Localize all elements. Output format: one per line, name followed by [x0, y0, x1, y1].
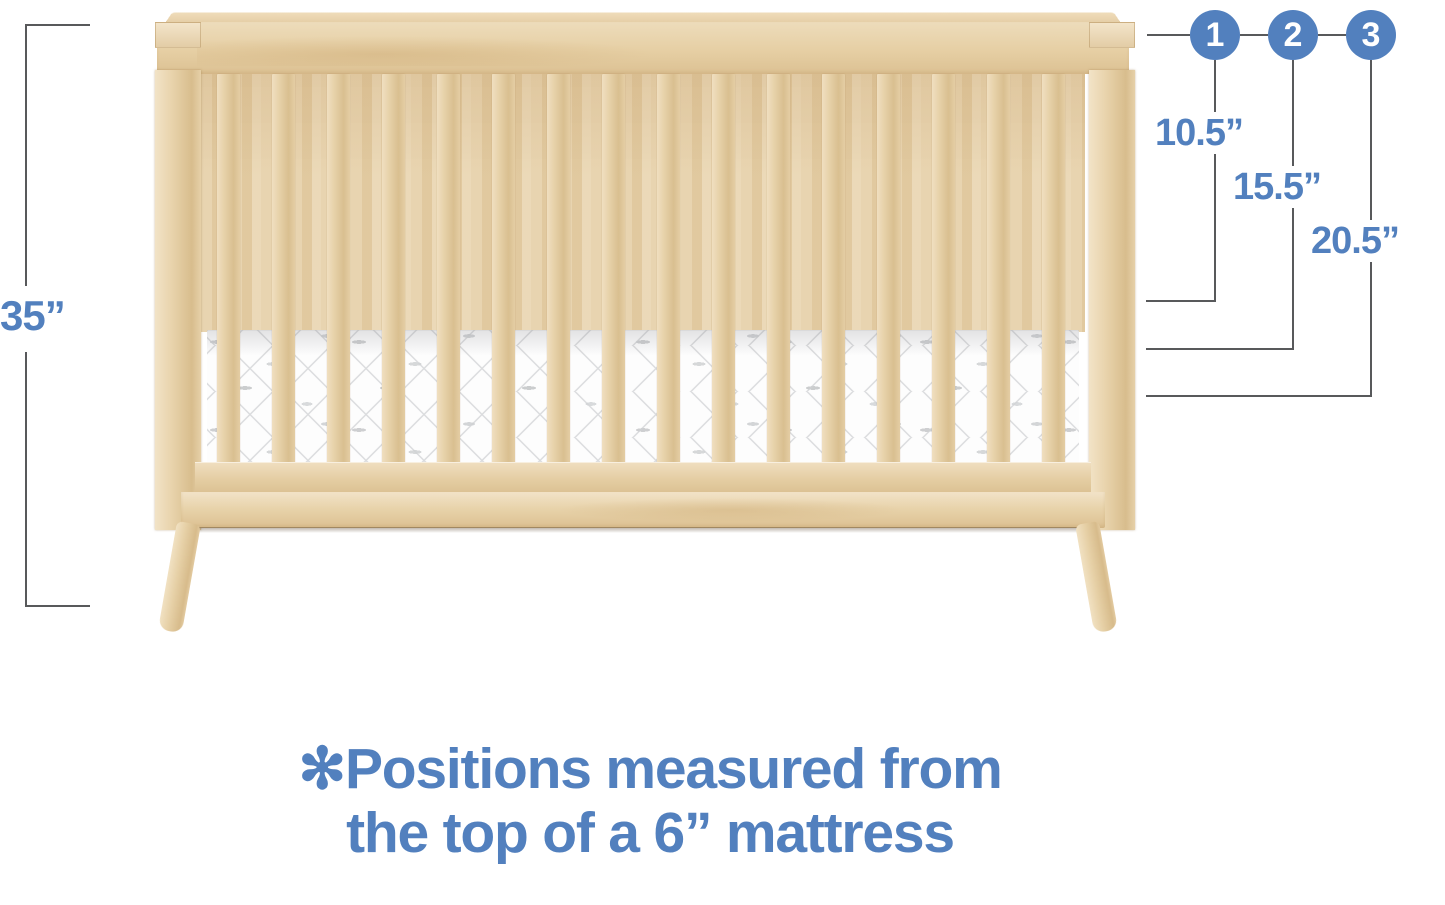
position-badge-1[interactable]: 1	[1190, 10, 1240, 60]
crib-slat	[712, 74, 735, 466]
overall-height-label: 35”	[0, 295, 110, 337]
leader-line-1-horizontal	[1146, 300, 1216, 302]
crib-under-shadow	[191, 527, 1095, 533]
crib-post-left	[155, 70, 201, 530]
crib-slat	[492, 74, 515, 466]
caption-line-1: ✻Positions measured from	[150, 738, 1150, 802]
crib-post-cap-right	[1089, 22, 1135, 48]
crib-slat	[877, 74, 900, 466]
asterisk-icon: ✻	[298, 737, 345, 801]
caption-line-2: the top of a 6” mattress	[150, 802, 1150, 866]
dimension-line-lower	[25, 352, 27, 607]
crib-post-cap-left	[155, 22, 201, 48]
leader-line-1-vertical	[1214, 60, 1216, 302]
crib-leg-right	[1075, 521, 1118, 633]
leader-line-2-horizontal	[1146, 348, 1294, 350]
crib-leg-left	[158, 521, 201, 633]
crib-slat	[932, 74, 955, 466]
connector-badge-2-to-3	[1318, 34, 1346, 36]
position-measurement-1: 10.5”	[1152, 112, 1246, 154]
crib-slat	[657, 74, 680, 466]
crib-slat	[382, 74, 405, 466]
position-badge-2[interactable]: 2	[1268, 10, 1318, 60]
crib-lower-rail	[195, 462, 1091, 492]
crib-slat	[437, 74, 460, 466]
leader-line-3-horizontal	[1146, 395, 1372, 397]
crib-top-rail	[157, 22, 1129, 74]
crib-post-right	[1089, 70, 1135, 530]
crib-base-plinth	[181, 492, 1105, 528]
crib-slat	[987, 74, 1010, 466]
overall-height-dimension: 35”	[0, 0, 130, 640]
dimension-tick-bottom	[25, 605, 90, 607]
connector-to-badge-1	[1147, 34, 1190, 36]
crib-slat	[272, 74, 295, 466]
mattress-position-callouts: 1 2 3 10.5” 15.5” 20.5”	[1130, 0, 1445, 420]
dimension-tick-top	[25, 24, 90, 26]
crib-slat	[822, 74, 845, 466]
diagram-canvas: 35”	[0, 0, 1445, 905]
crib-slat	[547, 74, 570, 466]
crib-illustration	[155, 0, 1135, 645]
caption-note: ✻Positions measured from the top of a 6”…	[150, 738, 1150, 866]
position-measurement-3: 20.5”	[1308, 220, 1402, 262]
crib-slat	[767, 74, 790, 466]
caption-line-1-text: Positions measured from	[345, 737, 1002, 801]
dimension-line-upper	[25, 24, 27, 286]
crib-slat	[602, 74, 625, 466]
position-badge-3[interactable]: 3	[1346, 10, 1396, 60]
crib-slat	[327, 74, 350, 466]
position-measurement-2: 15.5”	[1230, 166, 1324, 208]
connector-badge-1-to-2	[1240, 34, 1268, 36]
crib-slat	[217, 74, 240, 466]
crib-slat	[1042, 74, 1065, 466]
